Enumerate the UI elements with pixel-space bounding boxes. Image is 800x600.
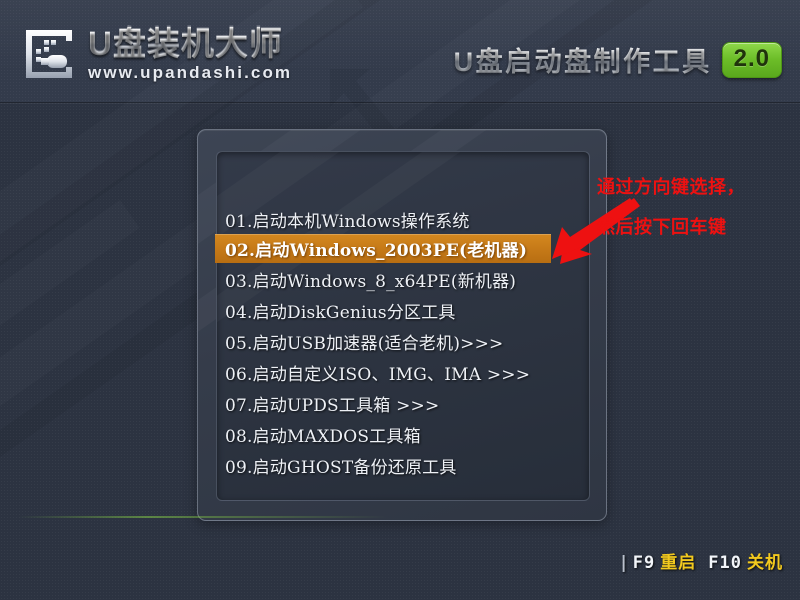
menu-item-05[interactable]: 05.启动USB加速器(适合老机)>>> xyxy=(215,327,551,356)
footer-hotkeys: |F9重启F10关机 xyxy=(619,548,783,573)
menu-item-09[interactable]: 09.启动GHOST备份还原工具 xyxy=(215,451,551,480)
instruction-line-1: 通过方向键选择， xyxy=(597,168,797,208)
brand-title: U盘装机大师 xyxy=(88,27,292,60)
app-header: U盘装机大师 www.upandashi.com U盘启动盘制作工具 2.0 xyxy=(0,0,800,103)
product-title: U盘启动盘制作工具 xyxy=(454,40,712,79)
hotkey-f10: F10 xyxy=(708,553,742,573)
menu-item-02[interactable]: 02.启动Windows_2003PE(老机器) xyxy=(215,234,551,263)
boot-menu-list: 01.启动本机Windows操作系统 02.启动Windows_2003PE(老… xyxy=(197,129,605,519)
menu-item-08[interactable]: 08.启动MAXDOS工具箱 xyxy=(215,420,551,449)
menu-item-03[interactable]: 03.启动Windows_8_x64PE(新机器) xyxy=(215,265,551,294)
hotkey-f9: F9 xyxy=(633,553,655,573)
menu-item-06[interactable]: 06.启动自定义ISO、IMG、IMA >>> xyxy=(215,358,551,387)
menu-item-07[interactable]: 07.启动UPDS工具箱 >>> xyxy=(215,389,551,418)
brand-url: www.upandashi.com xyxy=(88,64,292,81)
menu-item-04[interactable]: 04.启动DiskGenius分区工具 xyxy=(215,296,551,325)
header-divider xyxy=(0,102,800,103)
product-title-group: U盘启动盘制作工具 2.0 xyxy=(454,40,782,79)
hotkey-f9-action: 重启 xyxy=(660,553,696,573)
hotkey-f10-action: 关机 xyxy=(747,553,783,573)
menu-item-01[interactable]: 01.启动本机Windows操作系统 xyxy=(215,205,551,234)
version-badge: 2.0 xyxy=(722,42,782,78)
instruction-annotation: 通过方向键选择， 然后按下回车键 xyxy=(597,168,797,248)
brand-logo: U盘装机大师 www.upandashi.com xyxy=(22,27,292,81)
footer-tick: | xyxy=(619,553,630,573)
instruction-line-2: 然后按下回车键 xyxy=(597,208,797,248)
boot-menu-screen: U盘装机大师 www.upandashi.com U盘启动盘制作工具 2.0 0… xyxy=(0,0,800,600)
usb-drive-icon xyxy=(22,27,80,81)
